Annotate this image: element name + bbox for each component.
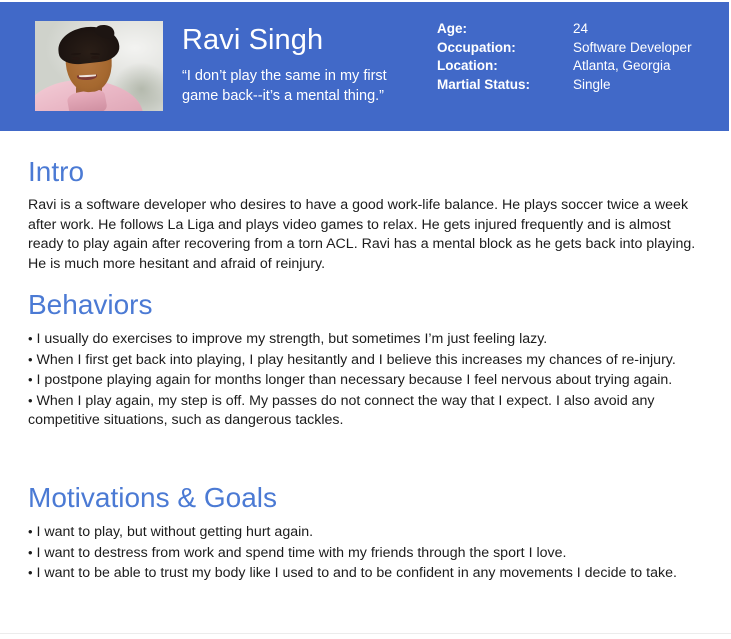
fact-value-location: Atlanta, Georgia xyxy=(573,58,671,73)
bullet-icon: • xyxy=(28,331,33,346)
slide-bottom-divider xyxy=(0,633,731,634)
fact-label-location: Location: xyxy=(437,58,573,73)
fact-row-marital-status: Martial Status:Single xyxy=(437,77,729,96)
fact-value-age: 24 xyxy=(573,21,588,36)
list-item-text: I postpone playing again for months long… xyxy=(37,372,673,388)
section-title-intro: Intro xyxy=(28,156,700,188)
photo-eyebrow-right xyxy=(90,52,100,54)
list-item: • When I first get back into playing, I … xyxy=(28,350,700,371)
list-item: • I want to play, but without getting hu… xyxy=(28,522,700,543)
list-item-text: I want to be able to trust my body like … xyxy=(37,565,677,581)
list-item-text: I want to play, but without getting hurt… xyxy=(37,524,314,540)
persona-slide: Ravi Singh “I don’t play the same in my … xyxy=(0,0,731,639)
fact-value-marital-status: Single xyxy=(573,77,611,92)
persona-header-banner: Ravi Singh “I don’t play the same in my … xyxy=(0,2,729,131)
bullet-icon: • xyxy=(28,352,33,367)
fact-label-marital-status: Martial Status: xyxy=(437,77,573,92)
list-item: • I usually do exercises to improve my s… xyxy=(28,329,700,350)
list-item-text: When I play again, my step is off. My pa… xyxy=(28,393,655,429)
section-intro: Intro Ravi is a software developer who d… xyxy=(28,156,700,274)
persona-facts-table: Age:24 Occupation:Software Developer Loc… xyxy=(437,21,729,95)
list-item-text: I usually do exercises to improve my str… xyxy=(37,331,548,347)
section-title-motivations-goals: Motivations & Goals xyxy=(28,482,700,514)
persona-quote: “I don’t play the same in my first game … xyxy=(182,66,422,106)
section-motivations-goals: Motivations & Goals • I want to play, bu… xyxy=(28,482,700,584)
fact-row-location: Location:Atlanta, Georgia xyxy=(437,58,729,77)
list-item-text: When I first get back into playing, I pl… xyxy=(37,352,676,368)
fact-label-occupation: Occupation: xyxy=(437,40,573,55)
fact-row-age: Age:24 xyxy=(437,21,729,40)
section-behaviors: Behaviors • I usually do exercises to im… xyxy=(28,289,700,431)
persona-name: Ravi Singh xyxy=(182,24,323,57)
fact-value-occupation: Software Developer xyxy=(573,40,692,55)
photo-eye-left xyxy=(72,57,80,60)
bullet-icon: • xyxy=(28,565,33,580)
list-item: • I want to be able to trust my body lik… xyxy=(28,563,700,584)
list-item: • I want to destress from work and spend… xyxy=(28,543,700,564)
bullet-icon: • xyxy=(28,372,33,387)
section-title-behaviors: Behaviors xyxy=(28,289,700,321)
fact-label-age: Age: xyxy=(437,21,573,36)
avatar xyxy=(35,21,163,111)
list-item: • I postpone playing again for months lo… xyxy=(28,370,700,391)
section-paragraph-intro: Ravi is a software developer who desires… xyxy=(28,196,700,274)
list-item-text: I want to destress from work and spend t… xyxy=(37,545,567,561)
list-item: • When I play again, my step is off. My … xyxy=(28,391,700,431)
bullet-icon: • xyxy=(28,545,33,560)
bullet-icon: • xyxy=(28,524,33,539)
bullet-icon: • xyxy=(28,393,33,408)
fact-row-occupation: Occupation:Software Developer xyxy=(437,40,729,59)
